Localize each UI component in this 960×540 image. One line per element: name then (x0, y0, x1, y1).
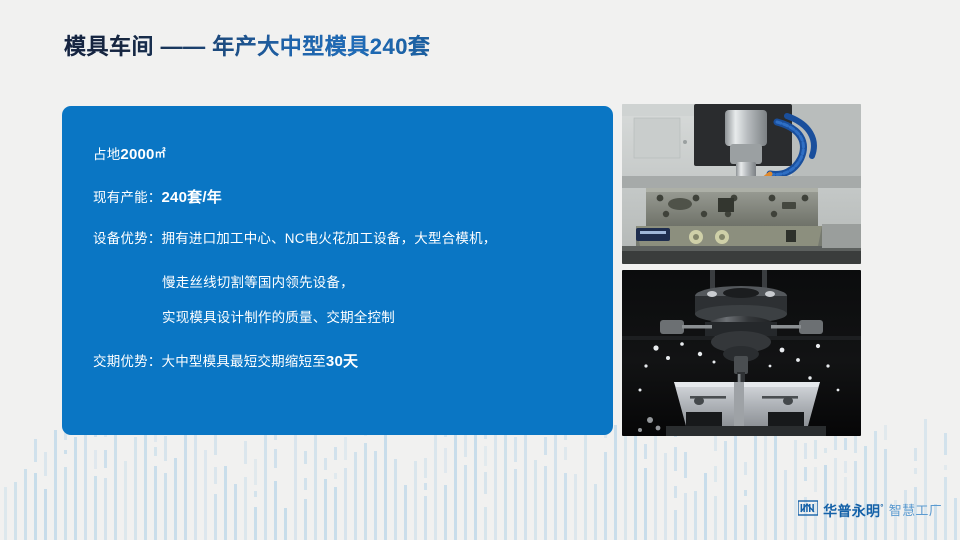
decorative-bar (324, 479, 327, 540)
decorative-bar-segment (844, 477, 847, 500)
decorative-bar (724, 441, 727, 540)
decorative-bar-segment (744, 490, 747, 496)
decorative-bar-segment (804, 467, 807, 481)
decorative-bar (624, 422, 627, 540)
decorative-bar (714, 496, 717, 540)
decorative-bar (864, 446, 867, 540)
leadtime-value: 30天 (326, 353, 358, 370)
decorative-bar-segment (914, 468, 917, 474)
decorative-bar-segment (644, 444, 647, 459)
decorative-bar (114, 418, 117, 540)
decorative-bar (64, 467, 67, 540)
decorative-bar-segment (34, 439, 37, 463)
decorative-bar (704, 473, 707, 540)
panel-line-capacity: 现有产能：240套/年 (93, 186, 222, 207)
decorative-bar (134, 437, 137, 540)
decorative-bar-segment (674, 486, 677, 499)
decorative-bar-segment (844, 438, 847, 451)
decorative-bar (634, 435, 637, 540)
decorative-bar (494, 432, 497, 540)
decorative-bar (744, 505, 747, 540)
decorative-bar (14, 482, 17, 540)
decorative-bar-segment (714, 434, 717, 451)
panel-line-equipment-2: 慢走丝线切割等国内领先设备， (162, 271, 354, 291)
decorative-bar (674, 510, 677, 540)
decorative-bar-segment (304, 451, 307, 464)
decorative-bar (654, 434, 657, 540)
decorative-bar-segment (464, 435, 467, 457)
panel-line-equipment-3: 实现模具设计制作的质量、交期全控制 (162, 306, 395, 326)
decorative-bar-segment (104, 450, 107, 468)
decorative-bar-segment (944, 433, 947, 455)
decorative-bar (434, 425, 437, 540)
decorative-bar-segment (444, 448, 447, 472)
decorative-bar-segment (944, 465, 947, 470)
decorative-bar-segment (214, 467, 217, 484)
decorative-bar-segment (94, 450, 97, 470)
decorative-bar (74, 437, 77, 540)
decorative-bar-segment (544, 437, 547, 455)
decorative-bar (664, 453, 667, 540)
decorative-bar (54, 430, 57, 540)
decorative-bar (484, 507, 487, 540)
decorative-bar (394, 459, 397, 540)
decorative-bar (564, 473, 567, 540)
decorative-bar (694, 491, 697, 540)
decorative-bar-segment (564, 447, 567, 460)
decorative-bar (274, 481, 277, 540)
decorative-bar-segment (824, 448, 827, 454)
decorative-bar (24, 469, 27, 540)
decorative-bar (684, 493, 687, 540)
decorative-bar (614, 425, 617, 540)
decorative-bar (124, 461, 127, 540)
decorative-bar (354, 452, 357, 540)
decorative-bar-segment (884, 425, 887, 440)
decorative-bar-segment (844, 461, 847, 473)
decorative-bar-segment (254, 459, 257, 485)
decorative-bar-segment (154, 447, 157, 456)
decorative-bar-segment (814, 440, 817, 459)
decorative-bar-segment (514, 437, 517, 461)
decorative-bar-segment (684, 452, 687, 478)
decorative-bar (164, 473, 167, 540)
decorative-bar-segment (324, 458, 327, 470)
decorative-bar (384, 432, 387, 540)
decorative-bar-segment (304, 478, 307, 490)
decorative-bar (784, 470, 787, 540)
decorative-bar (144, 427, 147, 540)
panel-line-equipment-1: 设备优势：拥有进口加工中心、NC电火花加工设备，大型合模机， (93, 227, 497, 247)
decorative-bar (414, 461, 417, 540)
decorative-bar (644, 468, 647, 540)
decorative-bar (884, 449, 887, 540)
decorative-bar-segment (44, 452, 47, 476)
decorative-bar (524, 428, 527, 540)
area-value: 2000 (120, 146, 154, 163)
decorative-bar (264, 429, 267, 540)
decorative-bar-segment (674, 447, 677, 471)
decorative-bar (794, 440, 797, 540)
area-unit: ㎡ (155, 148, 166, 160)
brand-name: 华普永明° (823, 504, 884, 518)
decorative-bar (574, 474, 577, 540)
decorative-bar (214, 494, 217, 540)
photo-cnc-machining-center (622, 104, 861, 264)
decorative-bar (184, 431, 187, 540)
decorative-bar (474, 419, 477, 540)
photo-cnc-drilling-closeup (622, 270, 861, 436)
decorative-bar (954, 498, 957, 540)
area-label: 占地 (93, 147, 120, 162)
decorative-bar (84, 419, 87, 540)
decorative-bar (764, 431, 767, 540)
decorative-bar-segment (164, 436, 167, 461)
decorative-bar (344, 468, 347, 540)
decorative-bar-segment (64, 450, 67, 455)
page-title: 模具车间 —— 年产大中型模具240套 (64, 29, 430, 61)
decorative-bar-segment (714, 466, 717, 482)
decorative-bar (294, 426, 297, 540)
decorative-bar (44, 489, 47, 540)
decorative-bar-segment (274, 449, 277, 468)
decorative-bar (874, 431, 877, 540)
decorative-bar-segment (914, 448, 917, 462)
decorative-bar (244, 477, 247, 540)
decorative-bar (444, 485, 447, 540)
decorative-bar (34, 473, 37, 540)
decorative-bar (4, 487, 7, 540)
decorative-bar (154, 466, 157, 540)
decorative-bar-segment (484, 472, 487, 494)
decorative-bar (234, 484, 237, 540)
decorative-bar (314, 417, 317, 540)
decorative-bar (604, 452, 607, 540)
decorative-bar-segment (334, 447, 337, 460)
decorative-bar (174, 458, 177, 540)
decorative-bar (464, 465, 467, 540)
brand-degree-symbol: ° (880, 503, 884, 512)
decorative-bar (94, 476, 97, 540)
decorative-bar (754, 434, 757, 540)
brand-subtitle: 智慧工厂 (889, 504, 942, 517)
brand-logo: 华普永明° 智慧工厂 (798, 499, 942, 522)
decorative-bar (534, 460, 537, 540)
decorative-bar-segment (244, 441, 247, 464)
capacity-label: 现有产能： (93, 190, 162, 205)
decorative-bar-segment (334, 473, 337, 480)
decorative-bar (254, 507, 257, 540)
decorative-bar-segment (484, 446, 487, 466)
panel-line-area: 占地2000㎡ (93, 143, 166, 163)
decorative-bar (194, 423, 197, 540)
panel-line-leadtime: 交期优势：大中型模具最短交期缩短至30天 (93, 350, 358, 371)
decorative-bar-segment (344, 437, 347, 461)
decorative-bar (284, 508, 287, 540)
decorative-bar (364, 443, 367, 540)
decorative-bar (204, 450, 207, 540)
decorative-bar (224, 466, 227, 540)
decorative-bar (514, 469, 517, 540)
decorative-bar (424, 496, 427, 540)
decorative-bar-segment (744, 462, 747, 475)
decorative-bar (594, 484, 597, 540)
decorative-bar (304, 499, 307, 540)
decorative-bar (104, 478, 107, 540)
decorative-bar (404, 485, 407, 540)
decorative-bar-segment (254, 491, 257, 496)
decorative-bar (374, 451, 377, 540)
decorative-bar-segment (424, 458, 427, 478)
decorative-bar (944, 477, 947, 540)
decorative-bar (544, 466, 547, 540)
decorative-bar (334, 487, 337, 540)
info-panel: 占地2000㎡ 现有产能：240套/年 设备优势：拥有进口加工中心、NC电火花加… (62, 106, 613, 435)
leadtime-label: 交期优势：大中型模具最短交期缩短至 (93, 354, 326, 369)
decorative-bar-segment (424, 483, 427, 490)
decorative-bar-segment (214, 433, 217, 455)
decorative-bar (734, 420, 737, 540)
capacity-value: 240套/年 (162, 189, 222, 206)
hpym-bars-icon (798, 499, 818, 522)
decorative-bar-segment (804, 443, 807, 459)
decorative-bar (584, 421, 587, 540)
decorative-bar-segment (814, 467, 817, 491)
